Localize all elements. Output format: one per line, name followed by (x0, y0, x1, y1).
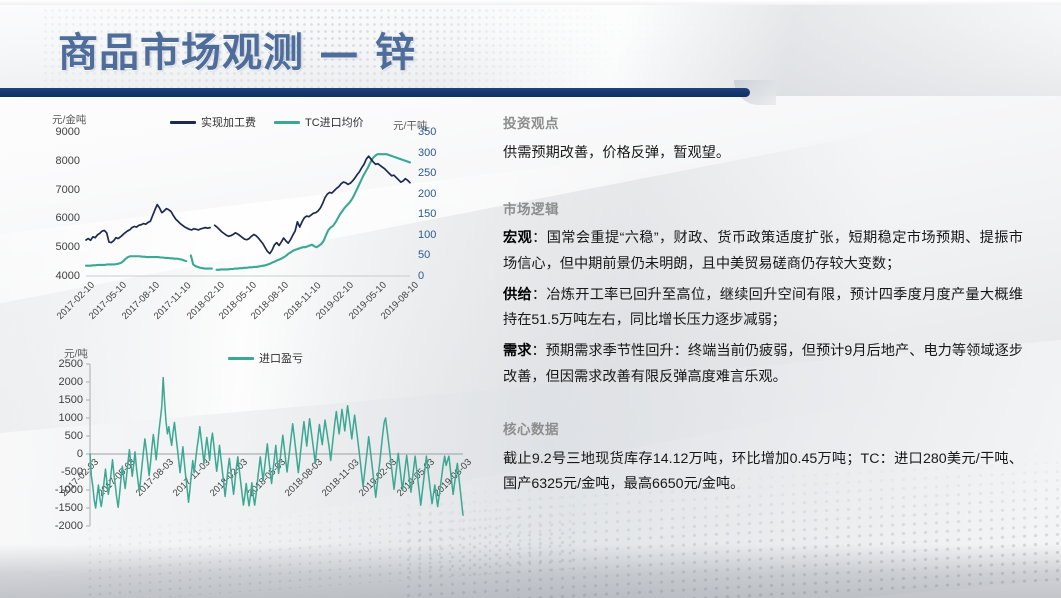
commentary-panel: 投资观点 供需预期改善，价格反弹，暂观望。 市场逻辑 宏观：国常会重提“六稳”，… (503, 112, 1023, 504)
section-heading-core-data: 核心数据 (503, 418, 1023, 438)
chart-processing-fee: 元/金吨 元/干吨 实现加工费 TC进口均价 40005000600070008… (38, 110, 468, 340)
header-top-edge (0, 0, 1061, 5)
spacer-2 (503, 396, 1023, 418)
market-logic-label-demand: 需求 (503, 343, 531, 359)
slide-root: 商品市场观测 — 锌 元/金吨 元/干吨 实现加工费 TC进口均价 400050… (0, 0, 1061, 598)
chart1-plot-area (38, 110, 468, 340)
market-logic-label-supply: 供给 (503, 287, 532, 303)
investment-view-body: 供需预期改善，价格反弹，暂观望。 (503, 141, 1023, 166)
page-title: 商品市场观测 — 锌 (58, 20, 416, 78)
market-logic-item-macro: 宏观：国常会重提“六稳”，财政、货币政策适度扩张，短期稳定市场预期、提振市场信心… (503, 226, 1023, 277)
section-heading-market-logic: 市场逻辑 (503, 198, 1023, 218)
market-logic-text-macro: ：国常会重提“六稳”，财政、货币政策适度扩张，短期稳定市场预期、提振市场信心，但… (503, 230, 1023, 271)
header-navy-bar (0, 88, 750, 97)
market-logic-text-demand: ：预期需求季节性回升：终端当前仍疲弱，但预计9月后地产、电力等领域逐步改善，但因… (503, 343, 1023, 384)
market-logic-item-demand: 需求：预期需求季节性回升：终端当前仍疲弱，但预计9月后地产、电力等领域逐步改善，… (503, 339, 1023, 390)
market-logic-label-macro: 宏观 (503, 230, 532, 246)
core-data-body: 截止9.2号三地现货库存14.12万吨，环比增加0.45万吨；TC：进口280美… (503, 447, 1023, 498)
market-logic-text-supply: ：冶炼开工率已回升至高位，继续回升空间有限，预计四季度月度产量大概维持在51.5… (503, 287, 1023, 328)
spacer-1 (503, 172, 1023, 198)
market-logic-item-supply: 供给：冶炼开工率已回升至高位，继续回升空间有限，预计四季度月度产量大概维持在51… (503, 283, 1023, 334)
chart-import-profit-loss: 元/吨 进口盈亏 -2000-1500-1000-500050010001500… (38, 342, 468, 588)
section-heading-investment-view: 投资观点 (503, 112, 1023, 132)
chart2-plot-area (38, 342, 468, 588)
